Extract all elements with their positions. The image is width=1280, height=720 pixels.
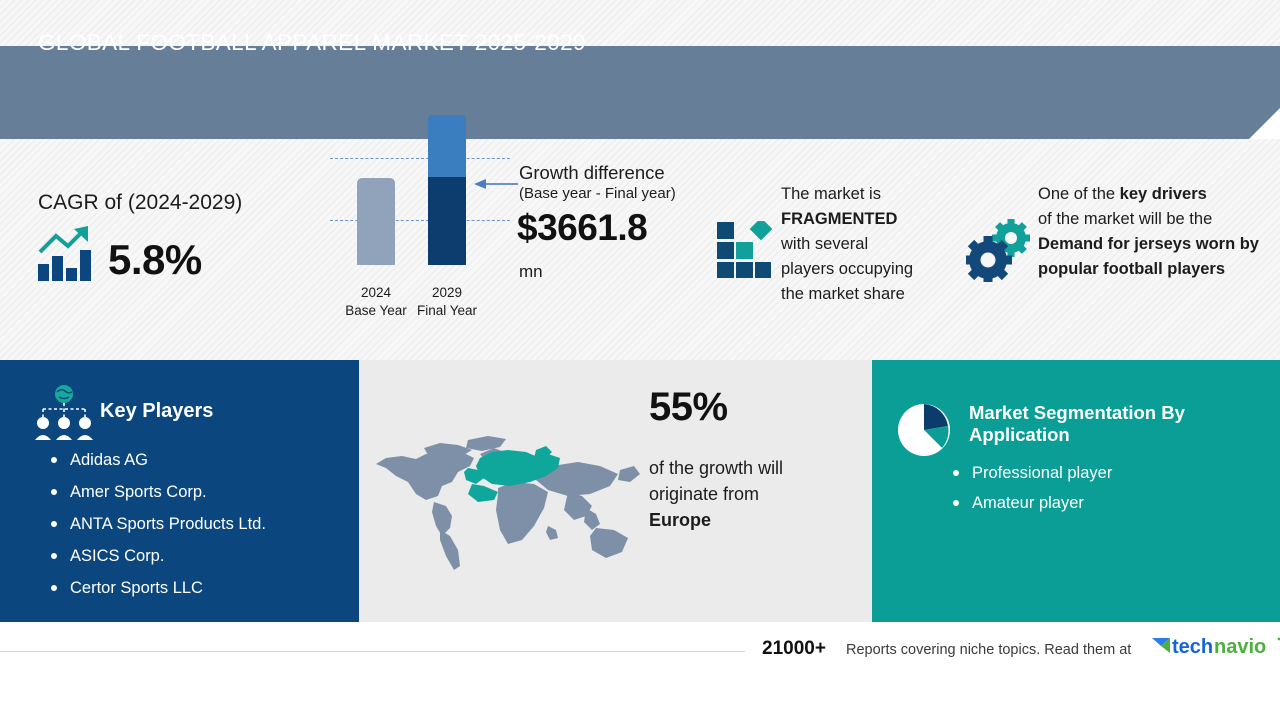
segmentation-title: Market Segmentation By Application [969,402,1259,446]
growth-bar-chart-icon [36,224,96,284]
fragmented-emphasis: FRAGMENTED [781,210,897,228]
fragmented-text: The market is FRAGMENTED with several pl… [781,182,951,307]
logo-tech-text: tech [1172,636,1213,658]
page-title: GLOBAL FOOTBALL APPAREL MARKET 2025-2029 [38,30,586,56]
pie-chart-icon [896,402,952,458]
key-players-title: Key Players [100,400,213,423]
growth-difference-subtitle: (Base year - Final year) [519,185,676,202]
bar-label-final-year: 2029Final Year [399,284,495,320]
header-bar [0,46,1280,139]
list-item: Professional player [950,463,1280,483]
list-item: Adidas AG [48,450,348,470]
region-text-line2: originate from [649,484,759,504]
logo-navio-text: navio [1214,636,1266,658]
list-item: Amer Sports Corp. [48,482,348,502]
left-arrow-icon [474,178,518,190]
bar-base-year [357,178,395,265]
key-players-list: Adidas AG Amer Sports Corp. ANTA Sports … [48,450,348,610]
gears-icon [966,218,1034,282]
list-item: ASICS Corp. [48,546,348,566]
drivers-line1-bold: key drivers [1120,185,1207,203]
fragmented-line1: The market is [781,185,881,203]
region-text-bold: Europe [649,510,711,530]
key-drivers-text: One of the key drivers of the market wil… [1038,182,1268,282]
footer-divider [0,651,745,652]
region-percent: 55% [649,385,728,430]
region-text: of the growth will originate from Europe [649,455,849,533]
cagr-label: CAGR of (2024-2029) [38,191,242,215]
footer-report-count: 21000+ [762,638,826,660]
segmentation-list: Professional player Amateur player [950,463,1280,523]
growth-difference-value: $3661.8 [517,207,647,249]
drivers-line2: of the market will be the [1038,210,1212,228]
list-item: ANTA Sports Products Ltd. [48,514,348,534]
infographic-root: GLOBAL FOOTBALL APPAREL MARKET 2025-2029… [0,0,1280,720]
drivers-line1-pre: One of the [1038,185,1120,203]
drivers-bold-block: Demand for jerseys worn by popular footb… [1038,235,1259,278]
list-item: Amateur player [950,493,1280,513]
footer-text: Reports covering niche topics. Read them… [846,642,1131,658]
org-chart-globe-icon [33,385,95,440]
technavio-logo[interactable]: tech navio [1150,633,1280,659]
world-map-icon [372,430,640,570]
growth-bar-chart: 2024Base Year 2029Final Year [330,150,510,320]
cagr-value: 5.8% [108,236,202,284]
chart-gridline-top [330,158,510,159]
fragmented-squares-icon [716,221,772,279]
growth-difference-title: Growth difference [519,162,665,184]
region-text-line1: of the growth will [649,458,783,478]
list-item: Certor Sports LLC [48,578,348,598]
bar-final-year [428,115,466,265]
growth-difference-unit: mn [519,262,543,282]
fragmented-line2: with several [781,235,868,253]
fragmented-line4: the market share [781,285,905,303]
fragmented-line3: players occupying [781,260,913,278]
